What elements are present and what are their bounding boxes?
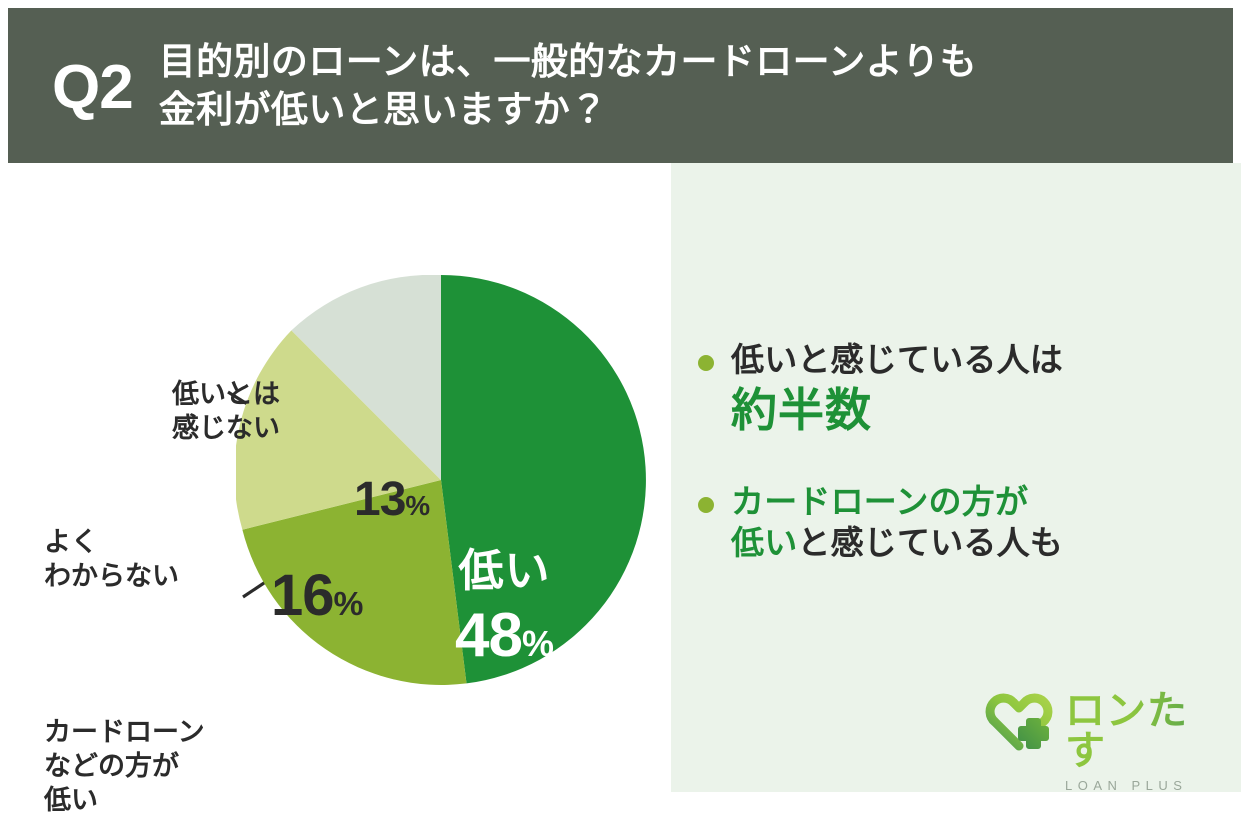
callout-dont-know-line-2: わからない [44,560,179,594]
pie-slice-low[interactable] [441,275,646,683]
callout-card-low-line-1: カードローン [44,716,205,750]
callout-label-card-loan-low: カードローン などの方が 低い [44,716,205,817]
insight-item-1-text: 低いと感じている人は 約半数 [731,339,1063,437]
heart-plus-icon [983,690,1055,754]
callout-dont-know-line-1: よく [44,526,179,560]
question-number: Q2 [52,57,133,119]
brand-text-block: ロンたす LOAN PLUS [1065,690,1215,793]
insights-list: 低いと感じている人は 約半数 カードローンの方が 低いと感じている人も [698,339,1218,608]
insight-1-line-1: 低いと感じている人は [731,339,1063,381]
question-title: 目的別のローンは、一般的なカードローンよりも 金利が低いと思いますか？ [159,38,977,133]
question-header-bar: Q2 目的別のローンは、一般的なカードローンよりも 金利が低いと思いますか？ [8,8,1233,163]
insight-item-1: 低いと感じている人は 約半数 [698,339,1218,437]
callout-card-low-line-2: などの方が [44,750,205,784]
bullet-dot-icon [698,355,714,371]
insight-2-line-2: 低いと感じている人も [731,522,1063,564]
slice-label-card-loan-low: 23% [335,690,427,748]
callout-not-low-line-2: 感じない [172,412,280,446]
callout-label-dont-know: よく わからない [44,526,179,594]
brand-wordmark: ロンたす [1065,691,1215,771]
pie-chart [236,275,646,685]
insight-2-line-1: カードローンの方が [731,481,1063,523]
insight-item-2: カードローンの方が 低いと感じている人も [698,481,1218,564]
percent-sign: % [398,709,428,746]
bullet-dot-icon [698,497,714,513]
chart-panel: 低い 48% 23% 16% 13% 低いとは 感じない よく わからない カー… [0,163,671,792]
slice-label-card-loan-low-value: 23 [335,686,398,751]
insight-2-line-2-rest: と感じている人も [797,524,1063,561]
question-line-1: 目的別のローンは、一般的なカードローンよりも [159,38,977,85]
callout-not-low-line-1: 低いとは [172,378,280,412]
brand-logo: ロンたす LOAN PLUS [983,690,1215,768]
callout-label-not-low: 低いとは 感じない [172,378,280,446]
question-line-2: 金利が低いと思いますか？ [159,86,977,133]
insight-2-emphasis: 低い [731,524,797,561]
brand-subtext: LOAN PLUS [1065,778,1215,793]
insight-1-emphasis: 約半数 [731,383,1063,437]
callout-card-low-line-3: 低い [44,784,205,817]
pie-chart-svg [236,275,646,685]
insight-item-2-text: カードローンの方が 低いと感じている人も [731,481,1063,564]
